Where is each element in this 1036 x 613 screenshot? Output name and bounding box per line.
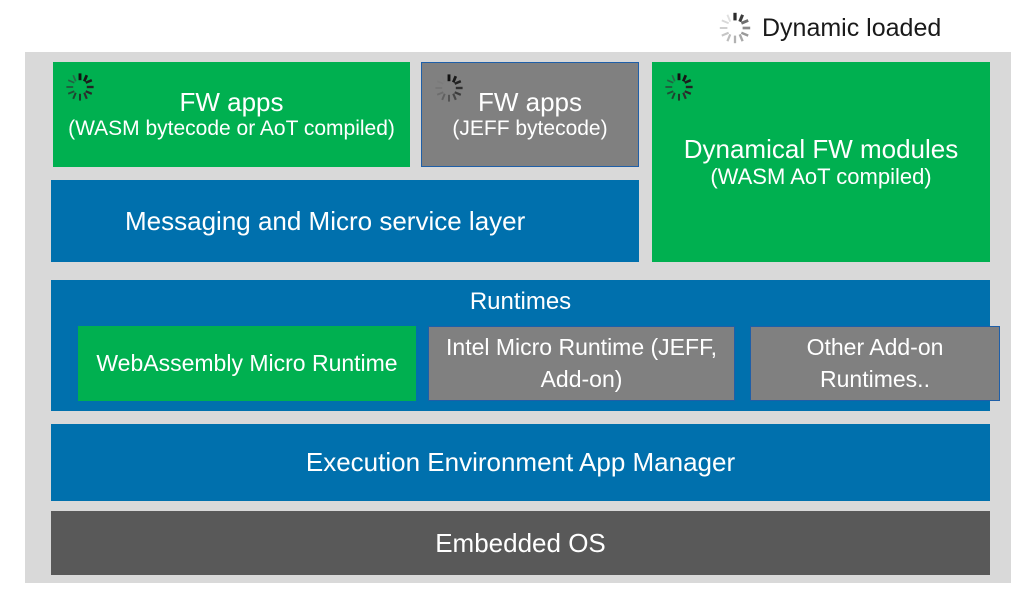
diagram-canvas: Dynamic loaded (0, 0, 1036, 613)
spinner-icon (432, 71, 466, 105)
runtime-item-label: Other Add-on Runtimes.. (757, 332, 993, 394)
runtime-item-label: Intel Micro Runtime (JEFF, Add-on) (435, 332, 728, 394)
spinner-icon (63, 70, 97, 104)
block-runtimes[interactable]: Runtimes WebAssembly Micro Runtime Intel… (51, 280, 990, 411)
block-title: FW apps (478, 87, 582, 118)
spinner-icon (716, 9, 754, 47)
runtime-item-intel-micro-runtime[interactable]: Intel Micro Runtime (JEFF, Add-on) (428, 326, 735, 401)
block-dynamical-fw-modules[interactable]: Dynamical FW modules (WASM AoT compiled) (652, 62, 990, 262)
block-app-manager[interactable]: Execution Environment App Manager (51, 424, 990, 501)
block-messaging-layer[interactable]: Messaging and Micro service layer (51, 180, 639, 262)
block-title: Embedded OS (435, 528, 606, 559)
runtime-item-label: WebAssembly Micro Runtime (96, 348, 397, 379)
runtime-item-webassembly-micro-runtime[interactable]: WebAssembly Micro Runtime (78, 326, 416, 401)
block-subtitle: (WASM AoT compiled) (710, 164, 931, 190)
legend-label: Dynamic loaded (762, 16, 941, 41)
runtime-item-other-add-on-runtimes[interactable]: Other Add-on Runtimes.. (750, 326, 1000, 401)
block-fw-apps-jeff[interactable]: FW apps (JEFF bytecode) (421, 62, 639, 167)
block-title: Execution Environment App Manager (306, 447, 735, 478)
block-embedded-os[interactable]: Embedded OS (51, 511, 990, 575)
block-subtitle: (WASM bytecode or AoT compiled) (68, 117, 395, 142)
architecture-panel: FW apps (WASM bytecode or AoT compiled) (25, 52, 1011, 583)
block-fw-apps-wasm[interactable]: FW apps (WASM bytecode or AoT compiled) (53, 62, 410, 167)
block-title: Messaging and Micro service layer (125, 206, 525, 237)
spinner-icon (662, 70, 696, 104)
block-subtitle: (JEFF bytecode) (452, 117, 607, 142)
runtimes-title: Runtimes (51, 288, 990, 316)
legend: Dynamic loaded (716, 8, 941, 48)
block-title: Dynamical FW modules (684, 134, 959, 165)
block-title: FW apps (179, 87, 283, 118)
